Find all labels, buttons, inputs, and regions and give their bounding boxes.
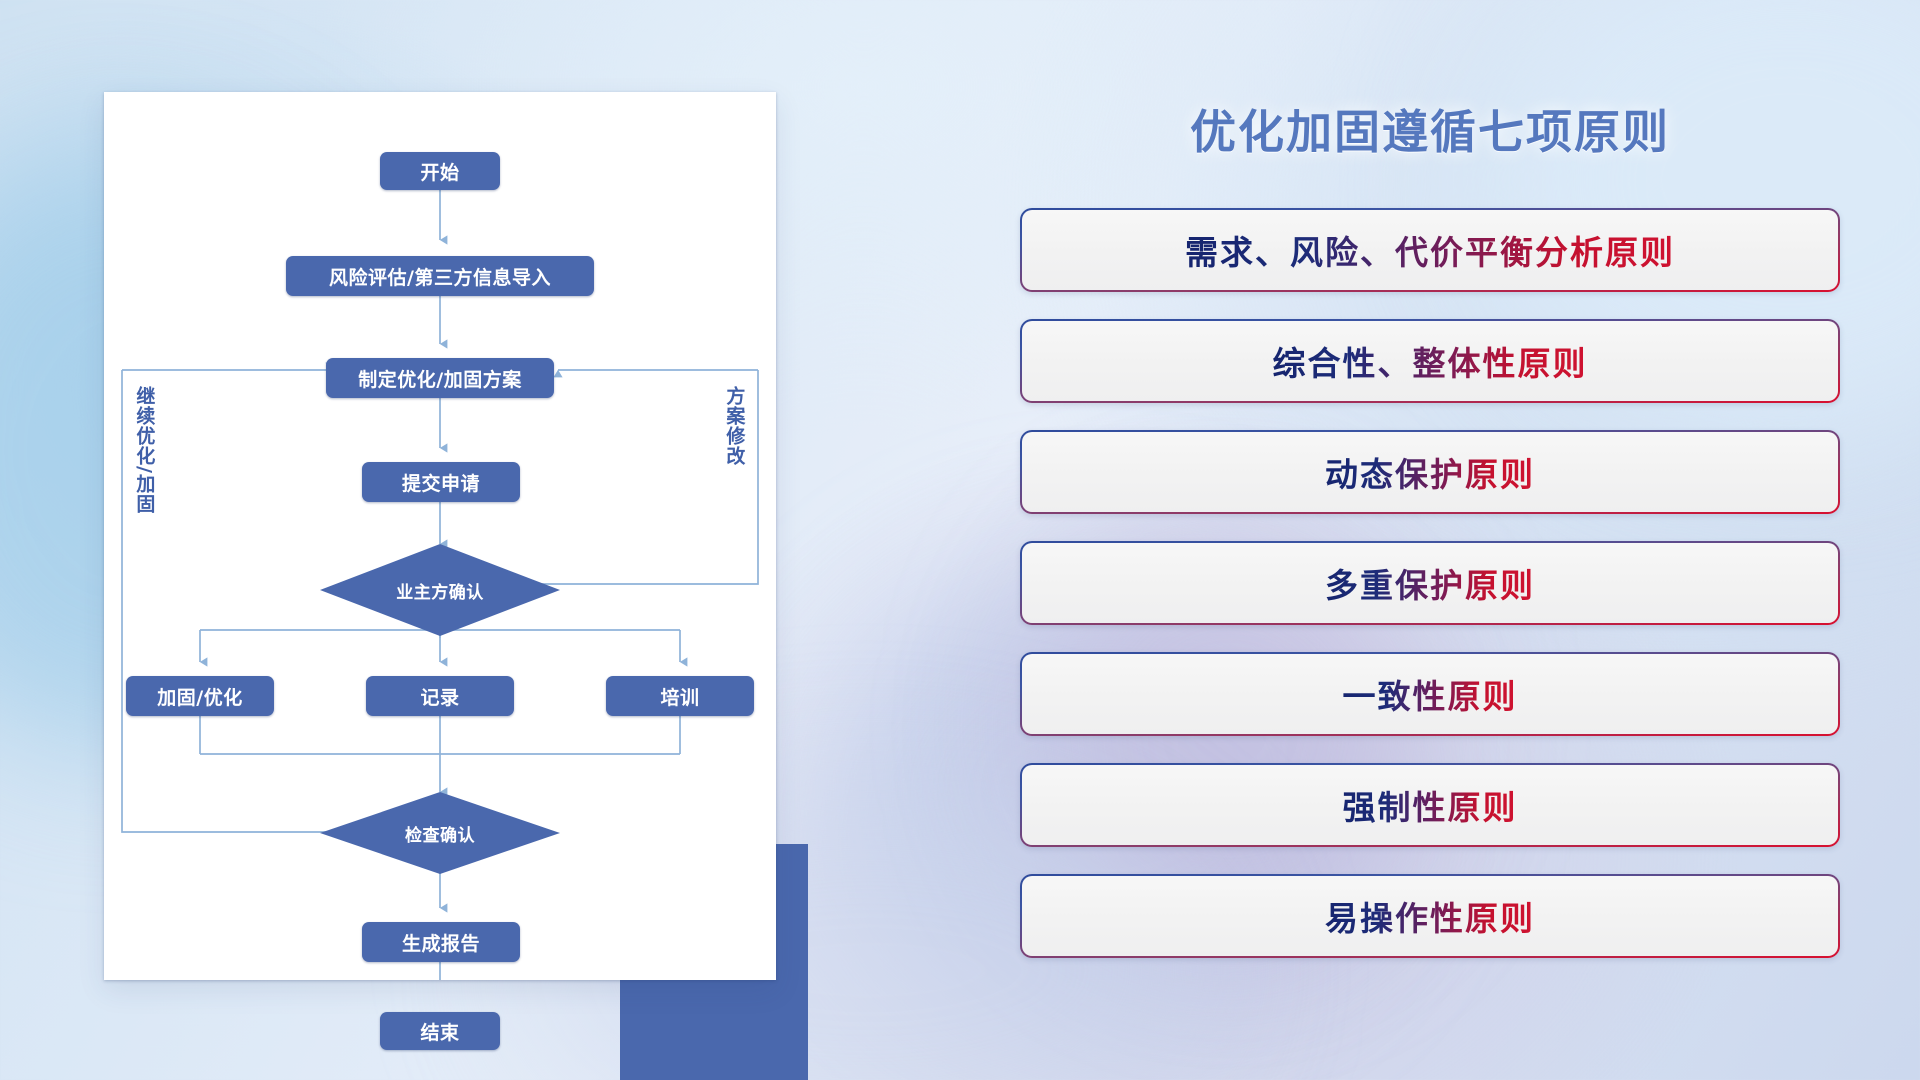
page-title: 优化加固遵循七项原则: [1020, 96, 1840, 162]
principle-item-6[interactable]: 强制性原则: [1020, 763, 1840, 847]
flow-node-reinforce[interactable]: 加固/优化: [126, 676, 274, 716]
flow-node-end[interactable]: 结束: [380, 1012, 500, 1050]
principle-surface: 综合性、整体性原则: [1022, 321, 1838, 401]
principle-label: 需求、风险、代价平衡分析原则: [1185, 226, 1675, 274]
principle-label: 综合性、整体性原则: [1273, 337, 1588, 385]
flow-edge-label-revise-plan: 方案修改: [724, 386, 743, 466]
principle-label: 一致性原则: [1343, 670, 1518, 718]
flow-node-label: 制定优化/加固方案: [358, 365, 521, 392]
flowchart-panel: 开始 风险评估/第三方信息导入 制定优化/加固方案 提交申请 业主方确认 加固/…: [104, 92, 816, 972]
principle-item-1[interactable]: 需求、风险、代价平衡分析原则: [1020, 208, 1840, 292]
principle-item-2[interactable]: 综合性、整体性原则: [1020, 319, 1840, 403]
principle-label: 多重保护原则: [1325, 559, 1535, 607]
flow-node-training[interactable]: 培训: [606, 676, 754, 716]
flow-node-label: 风险评估/第三方信息导入: [329, 263, 551, 290]
flow-node-label: 结束: [420, 1018, 459, 1045]
principle-surface: 强制性原则: [1022, 765, 1838, 845]
principle-item-5[interactable]: 一致性原则: [1020, 652, 1840, 736]
principle-surface: 一致性原则: [1022, 654, 1838, 734]
flow-node-start[interactable]: 开始: [380, 152, 500, 190]
principle-item-4[interactable]: 多重保护原则: [1020, 541, 1840, 625]
principle-surface: 需求、风险、代价平衡分析原则: [1022, 210, 1838, 290]
flow-node-submit[interactable]: 提交申请: [362, 462, 520, 502]
flow-node-label: 加固/优化: [157, 683, 242, 710]
principle-surface: 多重保护原则: [1022, 543, 1838, 623]
flow-node-label: 检查确认: [405, 821, 475, 846]
flow-node-report[interactable]: 生成报告: [362, 922, 520, 962]
principle-label: 易操作性原则: [1325, 892, 1535, 940]
flow-node-plan[interactable]: 制定优化/加固方案: [326, 358, 554, 398]
flow-edge-label-continue-optimize: 继续优化/加固: [134, 386, 153, 514]
principle-label: 强制性原则: [1343, 781, 1518, 829]
flow-node-label: 业主方确认: [396, 578, 484, 603]
flow-node-label: 提交申请: [402, 469, 480, 496]
principle-item-7[interactable]: 易操作性原则: [1020, 874, 1840, 958]
flow-node-record[interactable]: 记录: [366, 676, 514, 716]
principle-surface: 动态保护原则: [1022, 432, 1838, 512]
flow-node-label: 记录: [420, 683, 459, 710]
principles-panel: 优化加固遵循七项原则 需求、风险、代价平衡分析原则 综合性、整体性原则 动态保护…: [1020, 96, 1840, 985]
principle-label: 动态保护原则: [1325, 448, 1535, 496]
principle-surface: 易操作性原则: [1022, 876, 1838, 956]
flow-node-label: 培训: [660, 683, 699, 710]
flow-node-label: 生成报告: [402, 929, 480, 956]
flow-node-risk-assessment[interactable]: 风险评估/第三方信息导入: [286, 256, 594, 296]
flow-node-label: 开始: [420, 158, 459, 185]
flowchart-card: 开始 风险评估/第三方信息导入 制定优化/加固方案 提交申请 业主方确认 加固/…: [104, 92, 776, 980]
principle-item-3[interactable]: 动态保护原则: [1020, 430, 1840, 514]
